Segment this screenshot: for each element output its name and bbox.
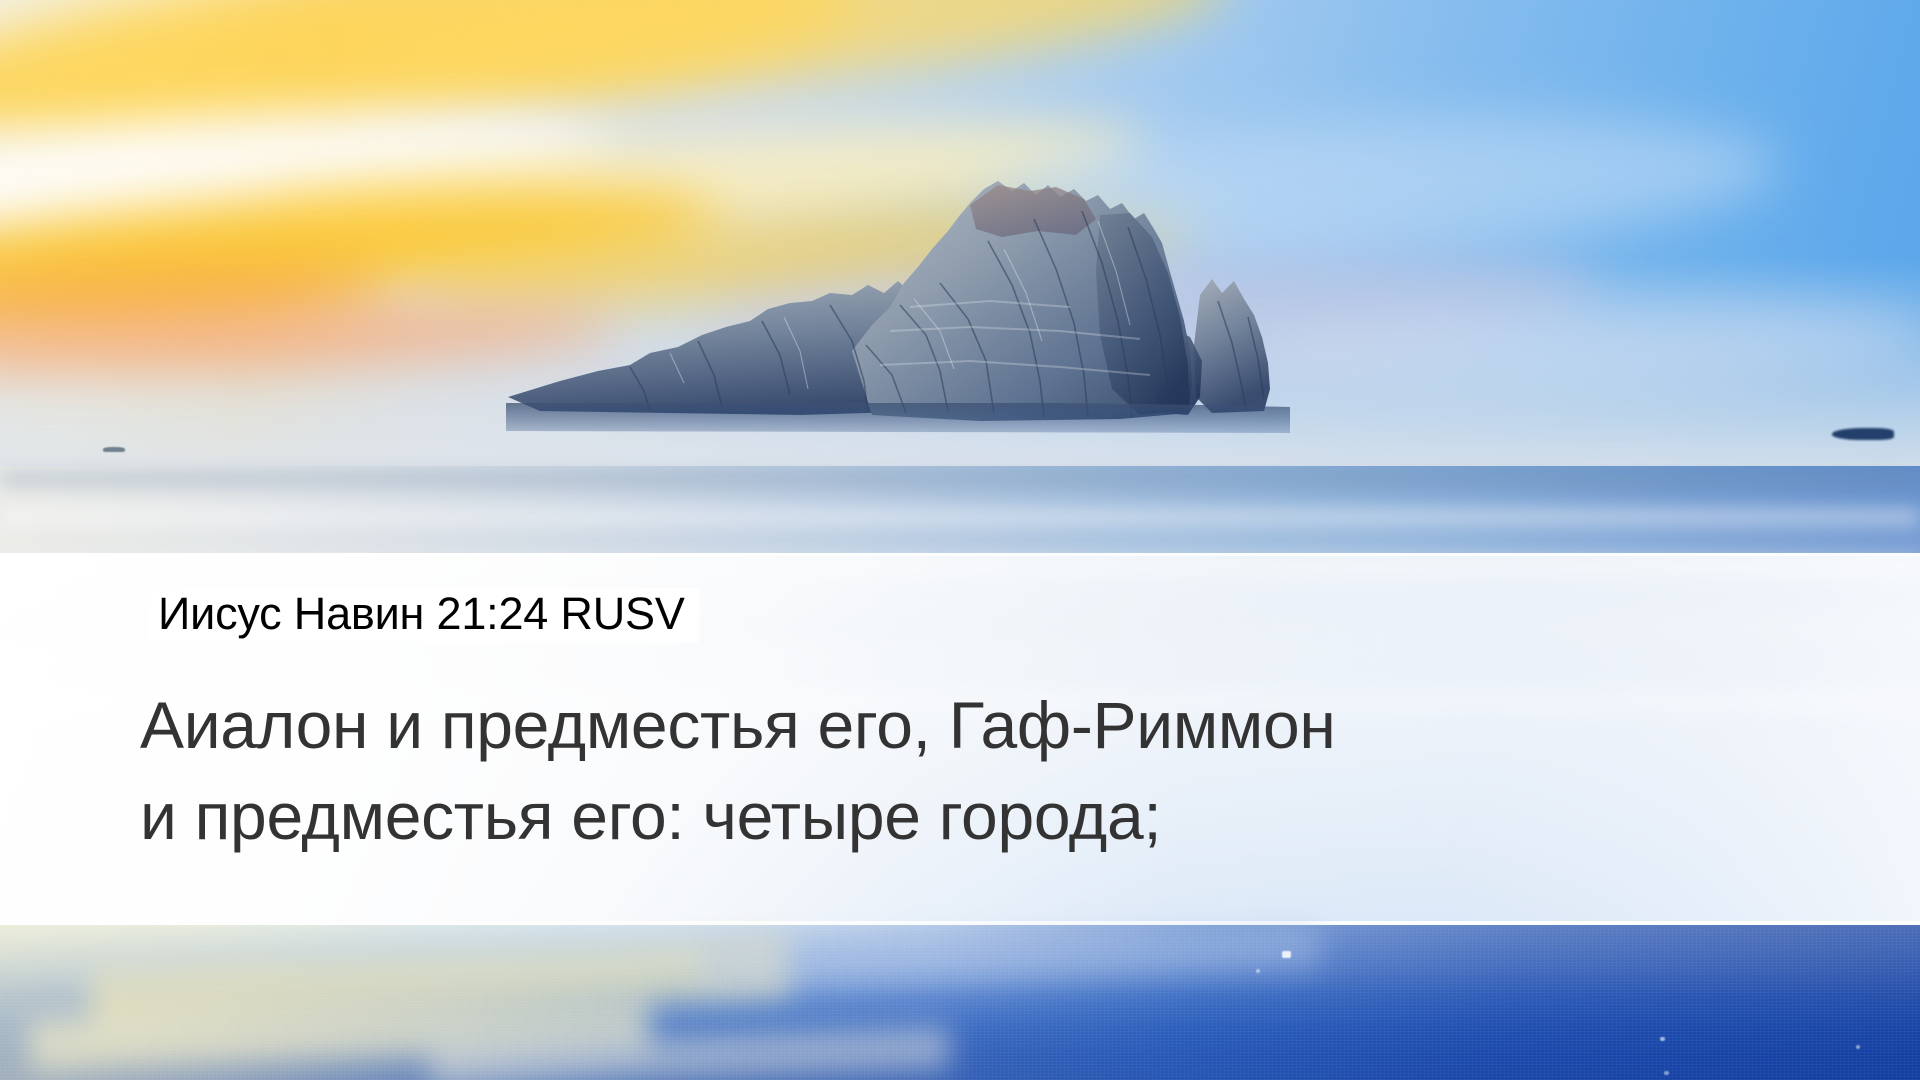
verse-text-block: Аиалон и предместья его, Гаф-Риммон и пр… bbox=[140, 680, 1820, 862]
water-streak bbox=[0, 474, 1920, 484]
scripture-reference-box: Иисус Навин 21:24 RUSV bbox=[148, 588, 699, 641]
rock-waterline bbox=[506, 403, 1290, 433]
scripture-reference: Иисус Навин 21:24 RUSV bbox=[158, 591, 685, 637]
verse-line-1: Аиалон и предместья его, Гаф-Риммон bbox=[140, 680, 1820, 771]
distant-islet bbox=[1832, 428, 1894, 440]
band-top-edge bbox=[0, 553, 1920, 556]
water-texture bbox=[0, 925, 1920, 1080]
distant-boat bbox=[103, 447, 125, 452]
scripture-image-card: Иисус Навин 21:24 RUSV Аиалон и предмест… bbox=[0, 0, 1920, 1080]
water-streak bbox=[0, 510, 1920, 524]
foreground-water bbox=[0, 925, 1920, 1080]
verse-line-2: и предместья его: четыре города; bbox=[140, 771, 1820, 862]
rock-island bbox=[500, 175, 1340, 475]
